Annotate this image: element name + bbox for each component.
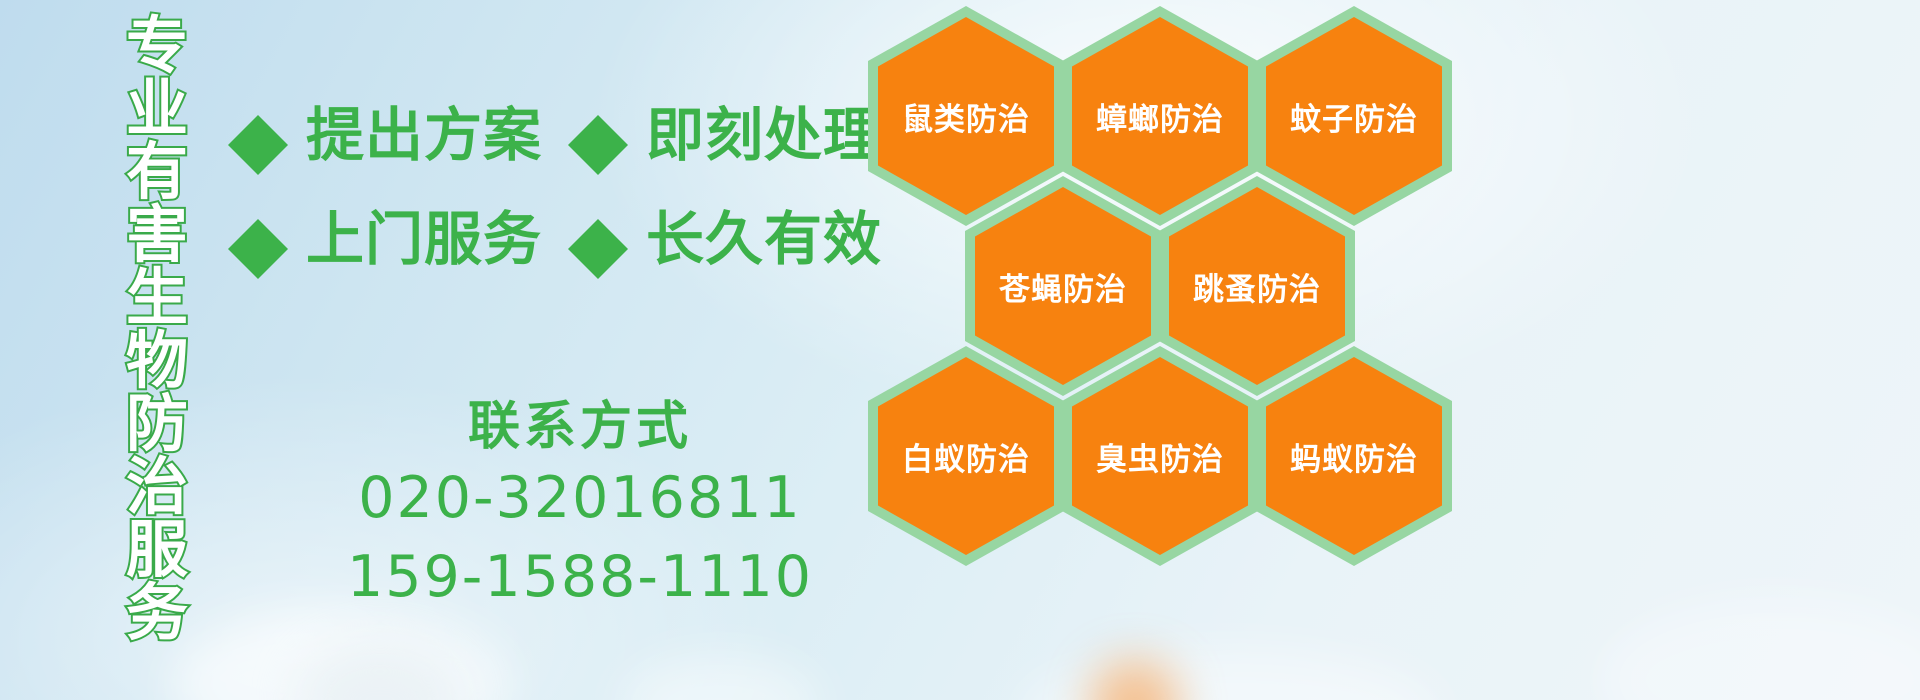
diamond-bullet-icon — [228, 189, 288, 249]
vertical-headline-char: 生 — [126, 266, 188, 329]
vertical-headline-char: 害 — [126, 203, 188, 266]
feature-bullet-row: 上门服务 长久有效 — [228, 182, 888, 286]
hex-label: 鼠类防治 — [902, 94, 1030, 139]
contact-phone-landline[interactable]: 020-32016811 — [300, 459, 860, 538]
vertical-headline-char: 治 — [126, 455, 188, 518]
feature-label-onsite-service: 上门服务 — [306, 192, 542, 276]
vertical-headline: 专 业 有 害 生 物 防 治 服 务 — [108, 14, 206, 686]
diamond-bullet-icon — [228, 85, 288, 145]
vertical-headline-char: 有 — [126, 140, 188, 203]
hex-cell-ant-control[interactable]: 蚂蚁防治 — [1256, 346, 1452, 566]
vertical-headline-char: 专 — [126, 14, 188, 77]
background-bokeh-blob — [1600, 600, 1920, 700]
service-hex-grid: 鼠类防治 蟑螂防治 蚊子防治 苍蝇防治 跳蚤防治 白蚁防治 — [860, 0, 1460, 560]
vertical-headline-char: 务 — [126, 581, 188, 644]
hex-label: 蚊子防治 — [1290, 94, 1418, 139]
feature-label-immediate-action: 即刻处理 — [646, 88, 882, 172]
vertical-headline-char: 业 — [126, 77, 188, 140]
hex-cell-bedbug-control[interactable]: 臭虫防治 — [1062, 346, 1258, 566]
pest-control-banner: 专 业 有 害 生 物 防 治 服 务 提出方案 即刻处理 上门服务 长久有效 … — [0, 0, 1920, 700]
hex-cell-termite-control[interactable]: 白蚁防治 — [868, 346, 1064, 566]
hex-label: 蚂蚁防治 — [1290, 434, 1418, 479]
diamond-bullet-icon — [568, 189, 628, 249]
hex-label: 臭虫防治 — [1096, 434, 1224, 479]
hex-label: 跳蚤防治 — [1193, 264, 1321, 309]
feature-label-propose-plan: 提出方案 — [306, 88, 542, 172]
feature-label-long-lasting: 长久有效 — [646, 192, 882, 276]
background-bokeh-blob — [620, 655, 820, 700]
contact-phone-mobile[interactable]: 159-1588-1110 — [300, 538, 860, 617]
feature-bullet-row: 提出方案 即刻处理 — [228, 78, 888, 182]
hex-label: 白蚁防治 — [902, 434, 1030, 479]
hex-label: 苍蝇防治 — [999, 264, 1127, 309]
background-bokeh-blob-orange — [1090, 660, 1180, 700]
hex-label: 蟑螂防治 — [1096, 94, 1224, 139]
contact-title: 联系方式 — [300, 395, 860, 459]
diamond-bullet-icon — [568, 85, 628, 145]
feature-bullets: 提出方案 即刻处理 上门服务 长久有效 — [228, 78, 888, 286]
vertical-headline-char: 防 — [126, 392, 188, 455]
background-bokeh-blob — [1020, 650, 1440, 700]
vertical-headline-char: 服 — [126, 518, 188, 581]
background-bokeh-blob — [300, 645, 460, 700]
vertical-headline-char: 物 — [126, 329, 188, 392]
contact-block: 联系方式 020-32016811 159-1588-1110 — [300, 395, 860, 617]
background-bokeh-blob — [170, 610, 510, 700]
